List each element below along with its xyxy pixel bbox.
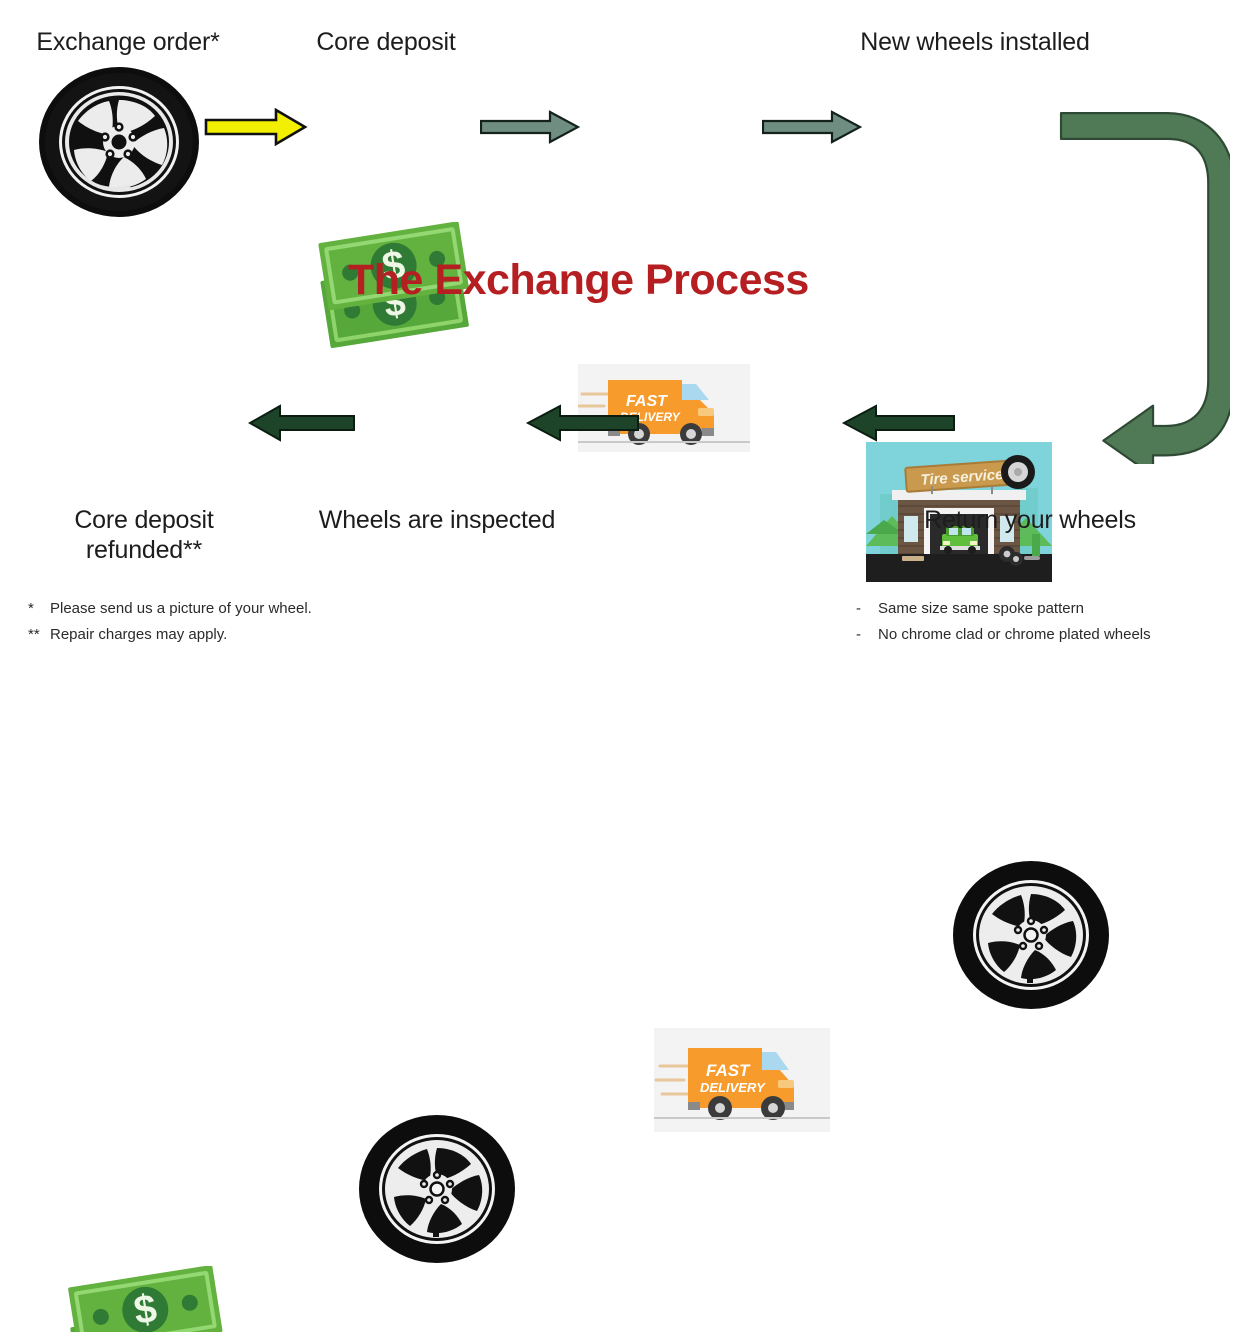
wheel-icon-return-your-wheels <box>952 860 1110 1010</box>
step-label-exchange-order: Exchange order* <box>0 28 256 58</box>
svg-text:FAST: FAST <box>706 1061 751 1080</box>
delivery-truck-icon-inbound: FAST DELIVERY <box>654 1028 830 1132</box>
arrow-right-sage-1 <box>480 110 580 144</box>
note-left-1: *Please send us a picture of your wheel. <box>28 596 312 622</box>
arrow-u-turn-green <box>1050 104 1230 464</box>
note-right-1-text: Same size same spoke pattern <box>878 600 1084 617</box>
note-left-1-mark: * <box>28 596 50 622</box>
note-left-2: **Repair charges may apply. <box>28 622 312 648</box>
note-left-1-text: Please send us a picture of your wheel. <box>50 600 312 617</box>
note-right-1-mark: - <box>856 596 878 622</box>
note-right-2-text: No chrome clad or chrome plated wheels <box>878 626 1151 643</box>
note-right-2-mark: - <box>856 622 878 648</box>
arrow-left-darkgreen-2 <box>524 402 640 444</box>
core-deposit-refunded-line2: refunded** <box>86 536 202 564</box>
note-right-2: -No chrome clad or chrome plated wheels <box>856 622 1151 648</box>
step-label-wheels-inspected: Wheels are inspected <box>300 506 574 536</box>
arrow-left-darkgreen-1 <box>840 402 956 444</box>
arrow-right-yellow <box>204 108 308 146</box>
money-icon-core-deposit-refunded: $ $ <box>58 1266 230 1332</box>
step-label-new-wheels-installed: New wheels installed <box>790 28 1160 58</box>
note-left-2-mark: ** <box>28 622 50 648</box>
core-deposit-refunded-line1: Core deposit <box>74 506 213 534</box>
page-title: The Exchange Process <box>348 256 809 305</box>
wheel-icon-wheels-inspected <box>358 1114 516 1264</box>
arrow-left-darkgreen-3 <box>246 402 356 444</box>
step-label-return-your-wheels: Return your wheels <box>890 506 1170 536</box>
svg-text:DELIVERY: DELIVERY <box>700 1080 766 1095</box>
arrow-right-sage-2 <box>762 110 862 144</box>
step-label-core-deposit: Core deposit <box>268 28 504 58</box>
exchange-process-diagram: Exchange order* Core deposit New wheels … <box>0 0 1250 666</box>
step-label-core-deposit-refunded: Core deposit refunded** <box>18 506 270 565</box>
wheel-icon-exchange-order <box>38 66 200 218</box>
note-right-1: -Same size same spoke pattern <box>856 596 1151 622</box>
notes-right: -Same size same spoke pattern -No chrome… <box>856 596 1151 648</box>
note-left-2-text: Repair charges may apply. <box>50 626 227 643</box>
notes-left: *Please send us a picture of your wheel.… <box>28 596 312 648</box>
